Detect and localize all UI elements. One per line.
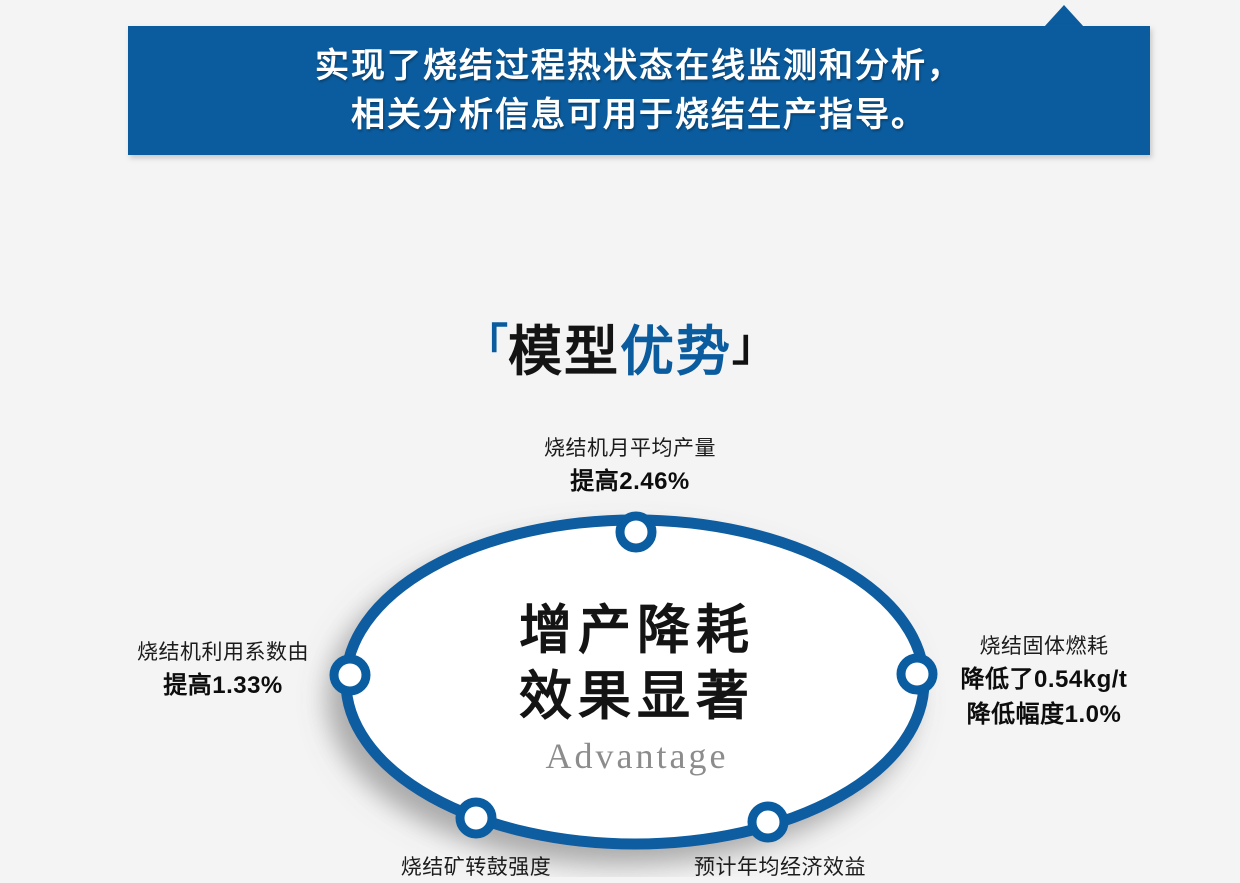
node-bottom-right <box>752 806 784 838</box>
callout-right-value-2: 降低幅度1.0% <box>900 697 1188 732</box>
node-bottom-left <box>460 802 492 834</box>
heading-text-primary: 模型 <box>508 322 620 382</box>
banner-line-2: 相关分析信息可用于烧结生产指导。 <box>351 91 927 140</box>
callout-top-title: 烧结机月平均产量 <box>440 433 820 464</box>
callout-left: 烧结机利用系数由 提高1.33% <box>8 637 438 703</box>
callout-top: 烧结机月平均产量 提高2.46% <box>440 433 820 499</box>
section-heading: 「模型优势」 <box>0 307 1240 386</box>
callout-right: 烧结固体燃耗 降低了0.54kg/t 降低幅度1.0% <box>900 631 1188 732</box>
banner-arrow-icon <box>1044 5 1084 27</box>
callout-top-value: 提高2.46% <box>440 464 820 499</box>
callout-bottom-right: 预计年均经济效益 <box>600 852 960 883</box>
banner-line-1: 实现了烧结过程热状态在线监测和分析， <box>315 42 963 91</box>
heading-text-accent: 优势 <box>620 322 732 382</box>
bracket-open-icon: 「 <box>464 321 508 370</box>
bracket-close-icon: 」 <box>732 321 776 370</box>
callout-right-title: 烧结固体燃耗 <box>900 631 1188 662</box>
node-top <box>620 516 652 548</box>
callout-left-title: 烧结机利用系数由 <box>8 637 438 668</box>
callout-left-value: 提高1.33% <box>8 668 438 703</box>
banner-region: 实现了烧结过程热状态在线监测和分析， 相关分析信息可用于烧结生产指导。 <box>0 0 1240 160</box>
callout-right-value: 降低了0.54kg/t <box>900 662 1188 697</box>
headline-banner: 实现了烧结过程热状态在线监测和分析， 相关分析信息可用于烧结生产指导。 <box>128 26 1150 155</box>
callout-bottom-right-title: 预计年均经济效益 <box>600 852 960 883</box>
center-subtitle: Advantage <box>337 732 937 780</box>
